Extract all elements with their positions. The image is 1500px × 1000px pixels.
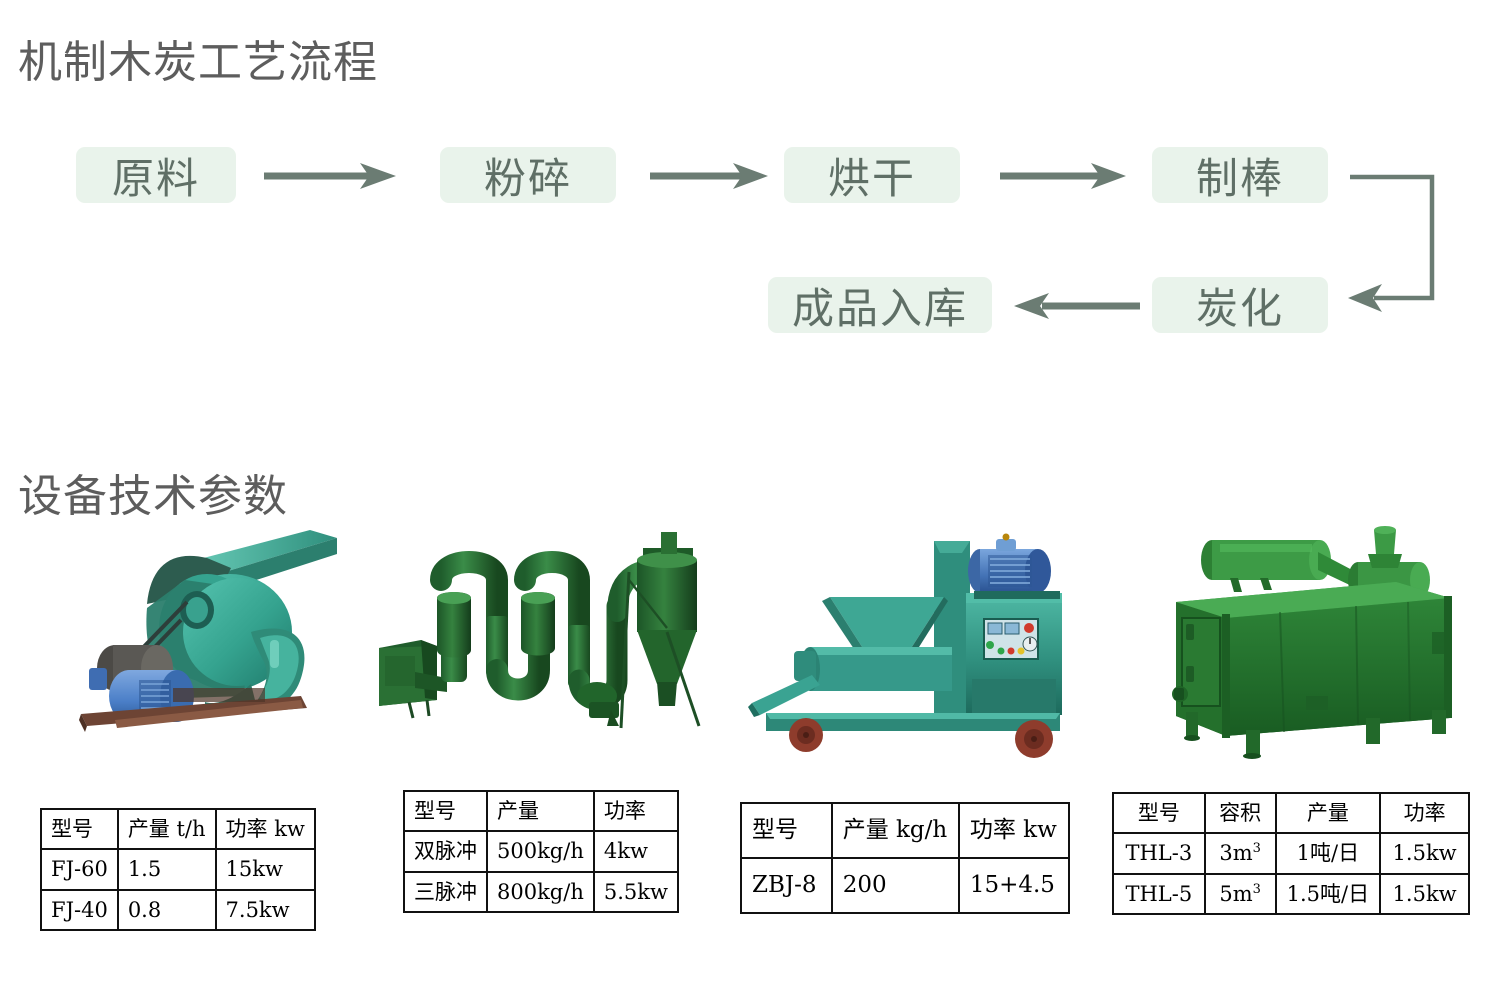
flow-arrow-raw-to-crushing (262, 160, 398, 192)
table-row: THL-5 5m3 1.5吨/日 1.5kw (1113, 874, 1469, 914)
flow-step-finished-goods-storage[interactable]: 成品入库 (768, 277, 992, 333)
table-cell: ZBJ-8 (741, 858, 832, 913)
table-header-cell: 型号 (1113, 793, 1205, 833)
table-header-row: 型号 产量 kg/h 功率 kw (741, 803, 1069, 858)
carbonization-furnace-image (1160, 520, 1460, 770)
table-cell: 1.5kw (1380, 874, 1469, 914)
table-cell: 双脉冲 (404, 831, 487, 871)
table-header-row: 型号 产量 t/h 功率 kw (41, 809, 315, 849)
table-cell: 15kw (216, 849, 315, 889)
table-header-cell: 功率 (1380, 793, 1469, 833)
page-title-specs: 设备技术参数 (18, 460, 288, 524)
table-header-cell: 产量 kg/h (832, 803, 959, 858)
table-row: FJ-60 1.5 15kw (41, 849, 315, 889)
table-header-row: 型号 产量 功率 (404, 791, 678, 831)
table-header-cell: 型号 (741, 803, 832, 858)
flow-step-raw-material[interactable]: 原料 (76, 147, 236, 203)
table-cell: 500kg/h (487, 831, 594, 871)
table-header-cell: 型号 (404, 791, 487, 831)
flow-arrow-drying-to-rod (998, 160, 1128, 192)
flow-arrow-carbonizing-to-storage (1012, 290, 1142, 322)
table-cell: 3m3 (1205, 833, 1276, 873)
flow-arrow-crushing-to-drying (648, 160, 770, 192)
specs-table-dryer: 型号 产量 功率 双脉冲 500kg/h 4kw 三脉冲 800kg/h 5.5… (403, 790, 679, 913)
volume-value: 5m3 (1219, 882, 1261, 906)
table-cell: 1吨/日 (1276, 833, 1381, 873)
table-cell: THL-5 (1113, 874, 1205, 914)
table-cell: 5m3 (1205, 874, 1276, 914)
table-cell: 1.5kw (1380, 833, 1469, 873)
table-header-cell: 产量 (487, 791, 594, 831)
table-cell: 1.5 (118, 849, 216, 889)
table-row: 双脉冲 500kg/h 4kw (404, 831, 678, 871)
page-title-process: 机制木炭工艺流程 (18, 26, 378, 90)
table-header-cell: 容积 (1205, 793, 1276, 833)
briquette-machine-image (748, 527, 1068, 762)
table-cell: 15+4.5 (959, 858, 1069, 913)
table-header-cell: 产量 (1276, 793, 1381, 833)
table-header-cell: 型号 (41, 809, 118, 849)
table-row: 三脉冲 800kg/h 5.5kw (404, 872, 678, 912)
crusher-machine-image (55, 528, 345, 738)
table-cell: 4kw (594, 831, 678, 871)
table-cell: 7.5kw (216, 890, 315, 930)
table-cell: 800kg/h (487, 872, 594, 912)
table-cell: 5.5kw (594, 872, 678, 912)
table-header-cell: 功率 (594, 791, 678, 831)
table-header-row: 型号 容积 产量 功率 (1113, 793, 1469, 833)
table-header-cell: 功率 kw (959, 803, 1069, 858)
table-row: ZBJ-8 200 15+4.5 (741, 858, 1069, 913)
airflow-dryer-machine-image (375, 520, 705, 750)
table-cell: 200 (832, 858, 959, 913)
flow-arrow-rod-to-carbonizing (1344, 164, 1454, 324)
table-row: FJ-40 0.8 7.5kw (41, 890, 315, 930)
page-root: 机制木炭工艺流程 设备技术参数 原料 粉碎 烘干 制棒 炭化 (0, 0, 1500, 1000)
table-cell: 1.5吨/日 (1276, 874, 1381, 914)
volume-value: 3m3 (1219, 841, 1261, 865)
specs-table-carbonizer: 型号 容积 产量 功率 THL-3 3m3 1吨/日 1.5kw THL-5 5… (1112, 792, 1470, 915)
flow-step-carbonizing[interactable]: 炭化 (1152, 277, 1328, 333)
flow-step-drying[interactable]: 烘干 (784, 147, 960, 203)
specs-table-crusher: 型号 产量 t/h 功率 kw FJ-60 1.5 15kw FJ-40 0.8… (40, 808, 316, 931)
table-cell: 0.8 (118, 890, 216, 930)
table-header-cell: 产量 t/h (118, 809, 216, 849)
table-cell: 三脉冲 (404, 872, 487, 912)
table-cell: THL-3 (1113, 833, 1205, 873)
specs-table-briquette: 型号 产量 kg/h 功率 kw ZBJ-8 200 15+4.5 (740, 802, 1070, 914)
flow-step-rod-making[interactable]: 制棒 (1152, 147, 1328, 203)
table-header-cell: 功率 kw (216, 809, 315, 849)
table-cell: FJ-60 (41, 849, 118, 889)
table-row: THL-3 3m3 1吨/日 1.5kw (1113, 833, 1469, 873)
flow-step-crushing[interactable]: 粉碎 (440, 147, 616, 203)
table-cell: FJ-40 (41, 890, 118, 930)
